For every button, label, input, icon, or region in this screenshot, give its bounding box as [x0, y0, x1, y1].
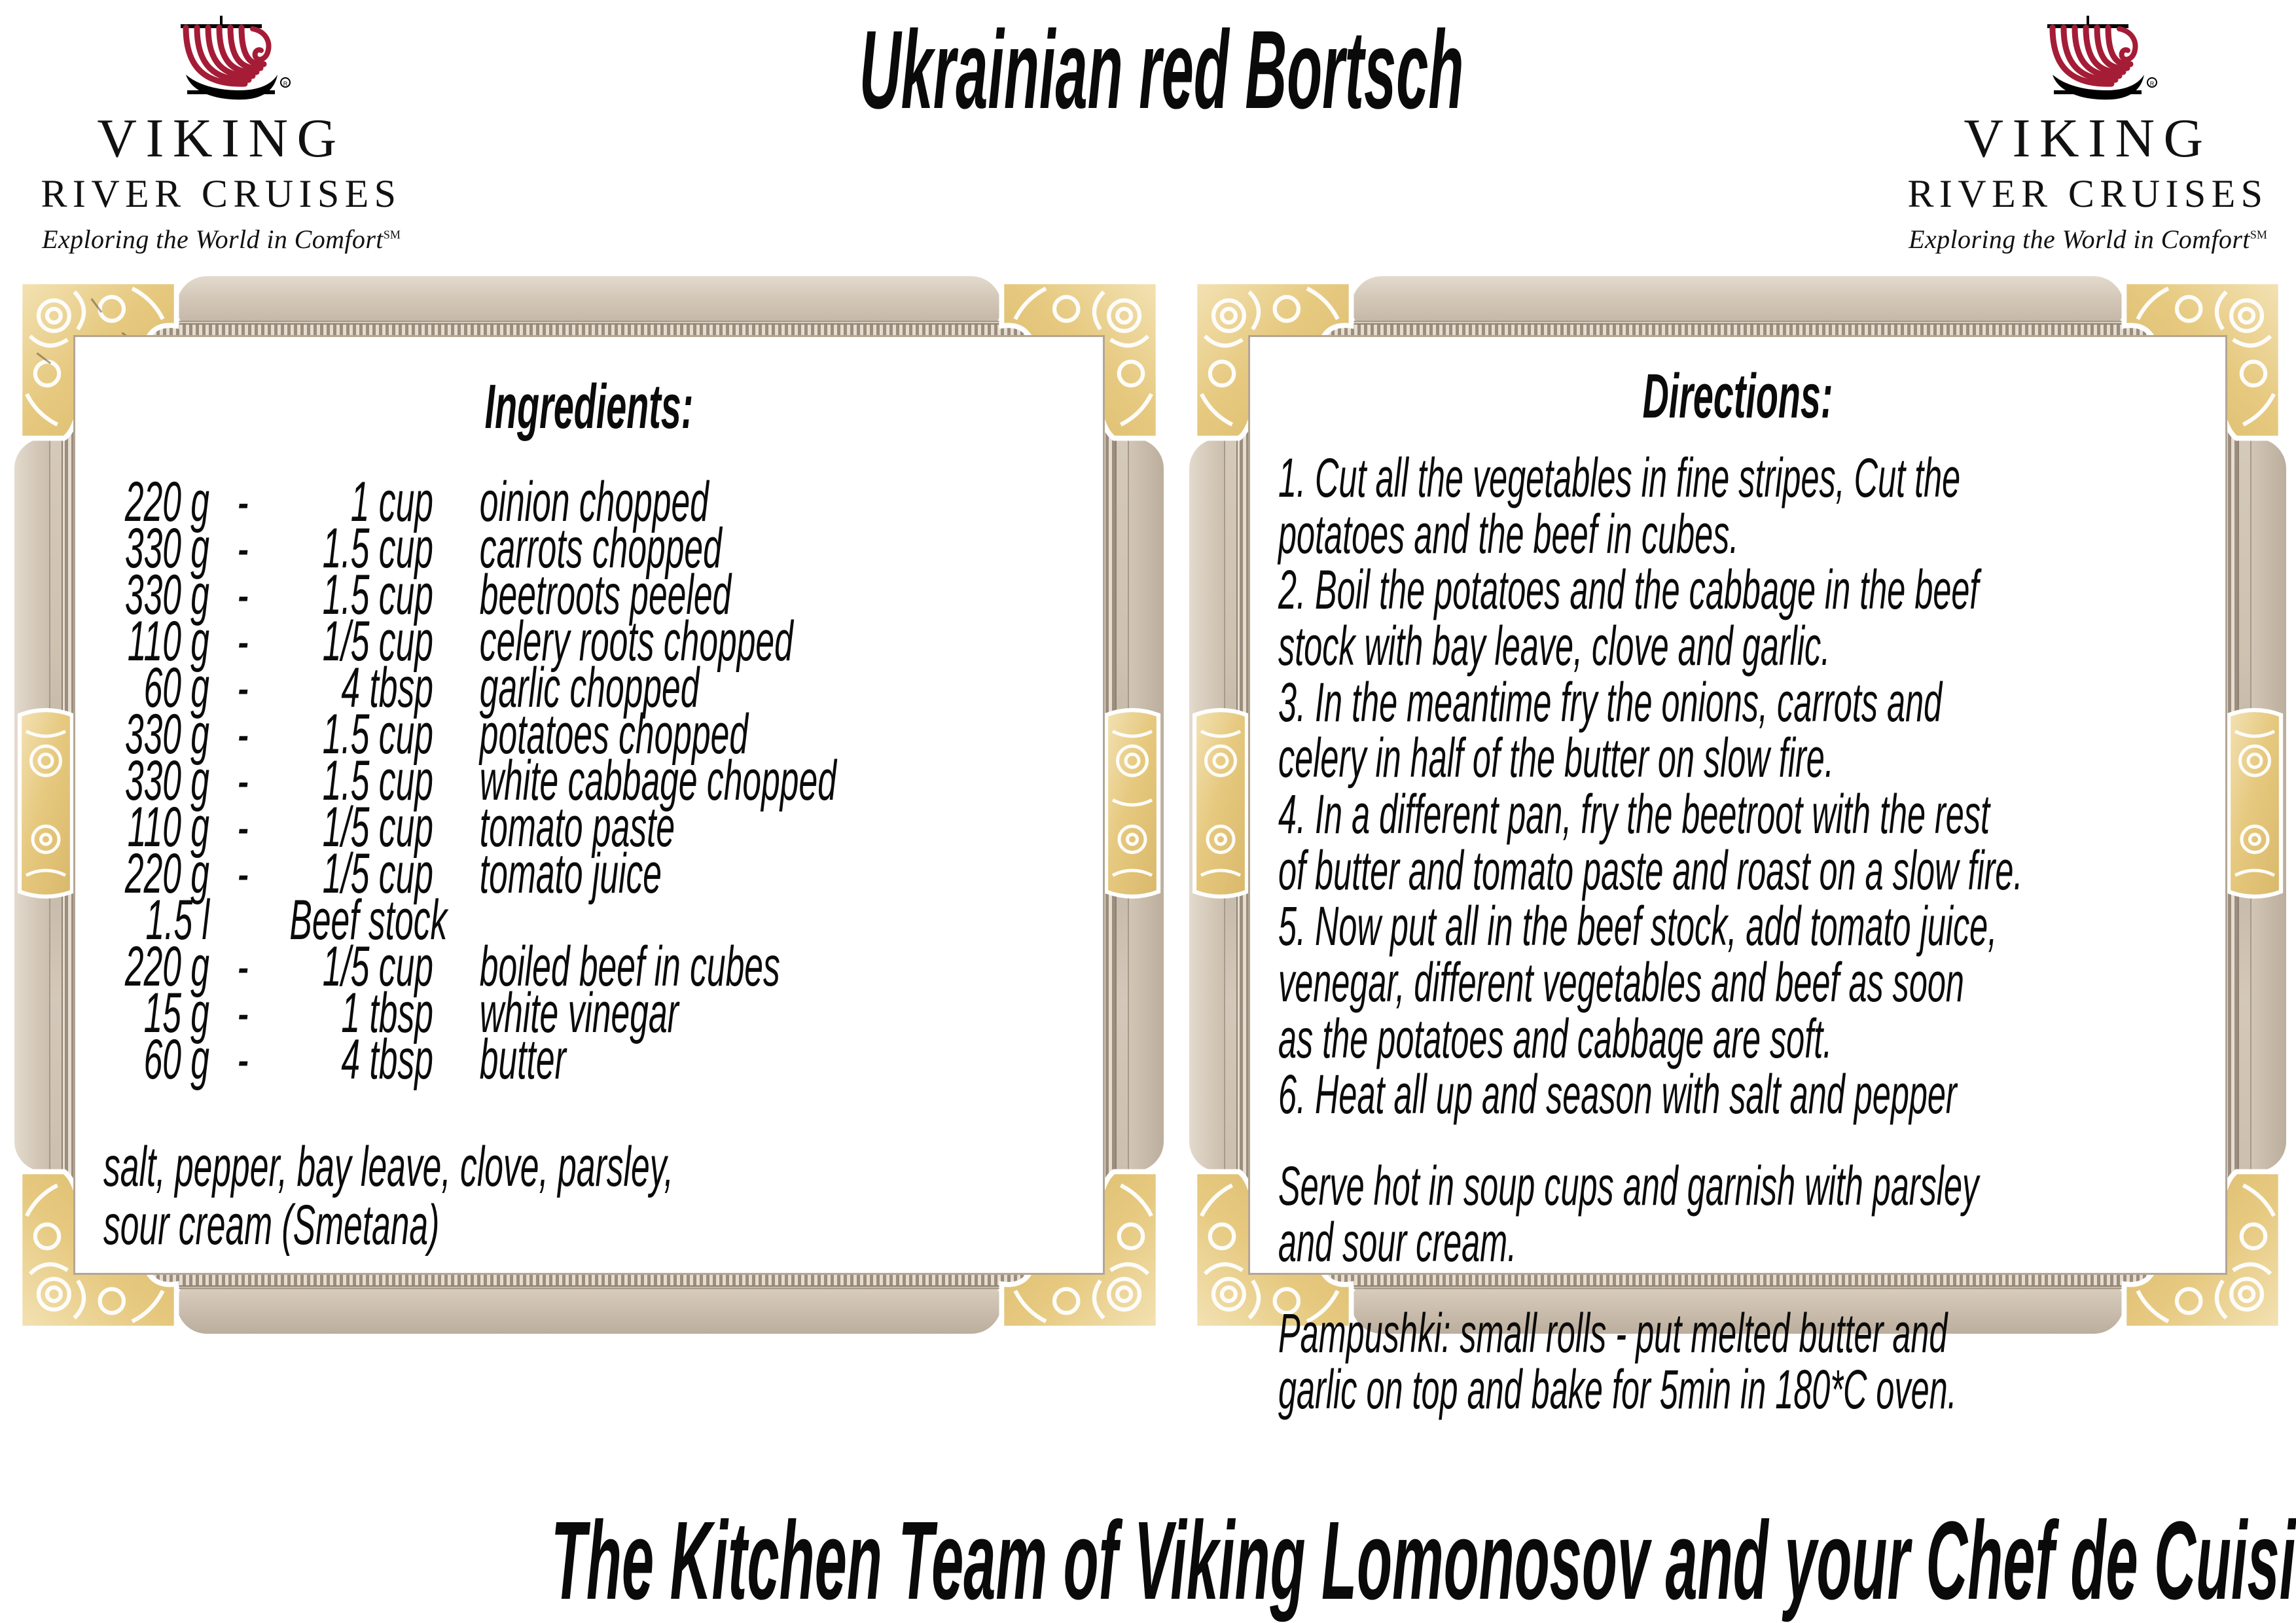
- brand-name-line2: RIVER CRUISES: [1885, 174, 2291, 213]
- note-line: and sour cream.: [1278, 1215, 2193, 1271]
- ingredients-list: 220 g-1 cupoinion chopped 330 g-1.5 cupc…: [103, 474, 1075, 1078]
- ingredient-row: 330 g-1.5 cuppotatoes chopped: [103, 706, 1071, 753]
- ingredient-row: 110 g-1/5 cupcelery roots chopped: [103, 613, 1071, 660]
- step-line: 4. In a different pan, fry the beetroot …: [1278, 787, 2193, 843]
- step-line: venegar, different vegetables and beef a…: [1278, 955, 2193, 1011]
- pampushki-note: Pampushki: small rolls - put melted butt…: [1278, 1306, 2193, 1418]
- brand-name-line1: VIKING: [18, 111, 424, 166]
- ingredient-row: 220 g-1/5 cuptomato juice: [103, 846, 1071, 892]
- step-line: 2. Boil the potatoes and the cabbage in …: [1278, 562, 2193, 618]
- ingredient-row: 330 g-1.5 cupbeetroots peeled: [103, 567, 1071, 613]
- spacer: [1278, 1270, 2197, 1306]
- ingredient-amount: 60 g: [103, 1031, 209, 1088]
- ingredient-measure: 4 tbsp: [276, 1031, 433, 1088]
- service-mark: SM: [384, 228, 401, 241]
- ingredients-content: Ingredients: 220 g-1 cupoinion chopped 3…: [73, 335, 1105, 1275]
- note-line: Pampushki: small rolls - put melted butt…: [1278, 1306, 2193, 1362]
- direction-step: 2. Boil the potatoes and the cabbage in …: [1278, 562, 2193, 674]
- brand-tagline: Exploring the World in ComfortSM: [18, 224, 424, 255]
- brand-tagline-text: Exploring the World in Comfort: [42, 224, 384, 254]
- ingredient-row: 330 g-1.5 cupcarrots chopped: [103, 520, 1071, 567]
- step-line: of butter and tomato paste and roast on …: [1278, 843, 2193, 899]
- ingredients-extra-note: salt, pepper, bay leave, clove, parsley,…: [103, 1138, 1071, 1255]
- brand-logo-right: R VIKING RIVER CRUISES Exploring the Wor…: [1885, 9, 2291, 238]
- ingredients-canvas: Ingredients: 220 g-1 cupoinion chopped 3…: [73, 335, 1105, 1275]
- ingredient-row: 60 g-4 tbspbutter: [103, 1031, 1071, 1078]
- ingredient-name: butter: [433, 1031, 566, 1088]
- frame-ornament-right-mid: [2222, 705, 2287, 905]
- ingredient-row: 220 g-1/5 cupboiled beef in cubes: [103, 938, 1071, 985]
- spacer: [1278, 1123, 2197, 1158]
- ingredient-row: 60 g-4 tbspgarlic chopped: [103, 660, 1071, 706]
- note-line: Serve hot in soup cups and garnish with …: [1278, 1158, 2193, 1215]
- service-mark: SM: [2250, 228, 2267, 241]
- note-line: garlic on top and bake for 5min in 180*C…: [1278, 1362, 2193, 1418]
- brand-logo-left: R VIKING RIVER CRUISES Exploring the Wor…: [18, 9, 424, 238]
- ingredients-frame: Ingredients: 220 g-1 cupoinion chopped 3…: [13, 275, 1165, 1335]
- extra-line: sour cream (Smetana): [103, 1196, 1071, 1255]
- brand-name-line1: VIKING: [1885, 111, 2291, 166]
- directions-list: 1. Cut all the vegetables in fine stripe…: [1278, 450, 2197, 1418]
- direction-step: 4. In a different pan, fry the beetroot …: [1278, 787, 2193, 899]
- direction-step: 6. Heat all up and season with salt and …: [1278, 1067, 2193, 1123]
- ingredient-row: 15 g-1 tbspwhite vinegar: [103, 985, 1071, 1031]
- ingredient-dash: -: [209, 1031, 276, 1088]
- directions-content: Directions: 1. Cut all the vegetables in…: [1248, 335, 2227, 1275]
- directions-frame: Directions: 1. Cut all the vegetables in…: [1188, 275, 2287, 1335]
- step-line: celery in half of the butter on slow fir…: [1278, 730, 2193, 787]
- frame-ornament-right-mid: [1100, 705, 1165, 905]
- step-line: potatoes and the beef in cubes.: [1278, 507, 2193, 563]
- brand-tagline-text: Exploring the World in Comfort: [1909, 224, 2250, 254]
- step-line: 5. Now put all in the beef stock, add to…: [1278, 899, 2193, 955]
- step-line: as the potatoes and cabbage are soft.: [1278, 1011, 2193, 1067]
- svg-text:R: R: [283, 80, 288, 87]
- brand-tagline: Exploring the World in ComfortSM: [1885, 224, 2291, 255]
- step-line: 3. In the meantime fry the onions, carro…: [1278, 675, 2193, 731]
- ingredient-row: 220 g-1 cupoinion chopped: [103, 474, 1071, 520]
- frame-ornament-left-mid: [13, 705, 79, 905]
- brand-name-line2: RIVER CRUISES: [18, 174, 424, 213]
- serving-note: Serve hot in soup cups and garnish with …: [1278, 1158, 2193, 1270]
- extra-line: salt, pepper, bay leave, clove, parsley,: [103, 1138, 1071, 1196]
- page-title: Ukrainian red Bortsch: [859, 14, 1444, 126]
- direction-step: 1. Cut all the vegetables in fine stripe…: [1278, 450, 2193, 562]
- svg-text:R: R: [2150, 80, 2155, 87]
- ingredient-row: 1.5 lBeef stock: [103, 892, 1071, 938]
- ingredients-title: Ingredients:: [308, 376, 871, 438]
- directions-title: Directions:: [1471, 365, 2004, 428]
- frame-ornament-left-mid: [1188, 705, 1253, 905]
- directions-canvas: Directions: 1. Cut all the vegetables in…: [1248, 335, 2227, 1275]
- step-line: 1. Cut all the vegetables in fine stripe…: [1278, 450, 2193, 507]
- step-line: stock with bay leave, clove and garlic.: [1278, 618, 2193, 675]
- direction-step: 5. Now put all in the beef stock, add to…: [1278, 899, 2193, 1067]
- viking-longship-icon: R: [1885, 9, 2291, 107]
- direction-step: 3. In the meantime fry the onions, carro…: [1278, 675, 2193, 787]
- ingredient-row: 110 g-1/5 cuptomato paste: [103, 799, 1071, 846]
- step-line: 6. Heat all up and season with salt and …: [1278, 1067, 2193, 1123]
- viking-longship-icon: R: [18, 9, 424, 107]
- footer-credit: The Kitchen Team of Viking Lomonosov and…: [551, 1505, 1745, 1616]
- ingredient-row: 330 g-1.5 cupwhite cabbage chopped: [103, 753, 1071, 799]
